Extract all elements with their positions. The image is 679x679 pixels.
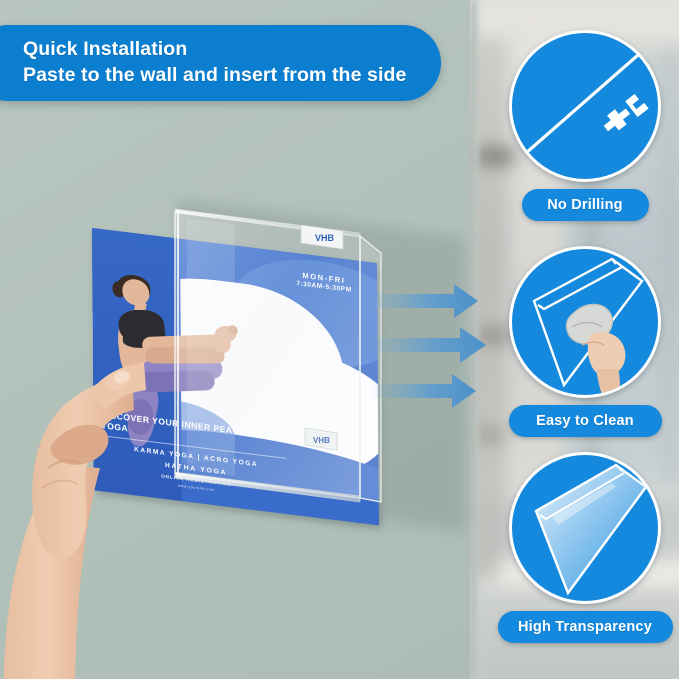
no-drilling-icon [509,30,661,182]
feature-no-drilling[interactable]: No Drilling [495,30,675,221]
clear-panel-icon [509,452,661,604]
wiping-hand-icon [509,246,661,398]
feature-label-high-transparency: High Transparency [518,619,652,635]
feature-pill-easy-to-clean[interactable]: Easy to Clean [509,405,662,437]
feature-label-easy-to-clean: Easy to Clean [536,413,634,429]
adhesive-tape-label-top: VHB [315,233,335,243]
feature-label-no-drilling: No Drilling [547,197,623,213]
svg-text:VHB: VHB [313,436,330,445]
product-image-stage: Quick Installation Paste to the wall and… [0,0,679,679]
banner-title-line2: Paste to the wall and insert from the si… [23,63,441,89]
arrow-3 [372,374,476,408]
feature-pill-no-drilling[interactable]: No Drilling [522,189,649,221]
feature-pill-high-transparency[interactable]: High Transparency [498,611,673,643]
arrow-2 [370,327,486,363]
arrow-1 [368,284,478,318]
banner-title-line1: Quick Installation [23,37,441,63]
feature-easy-to-clean[interactable]: Easy to Clean [495,246,675,437]
hand-back [32,376,134,559]
header-banner: Quick Installation Paste to the wall and… [0,25,441,101]
feature-high-transparency[interactable]: High Transparency [495,452,675,643]
insertion-arrows [368,280,498,410]
hand-illustration [0,318,182,679]
